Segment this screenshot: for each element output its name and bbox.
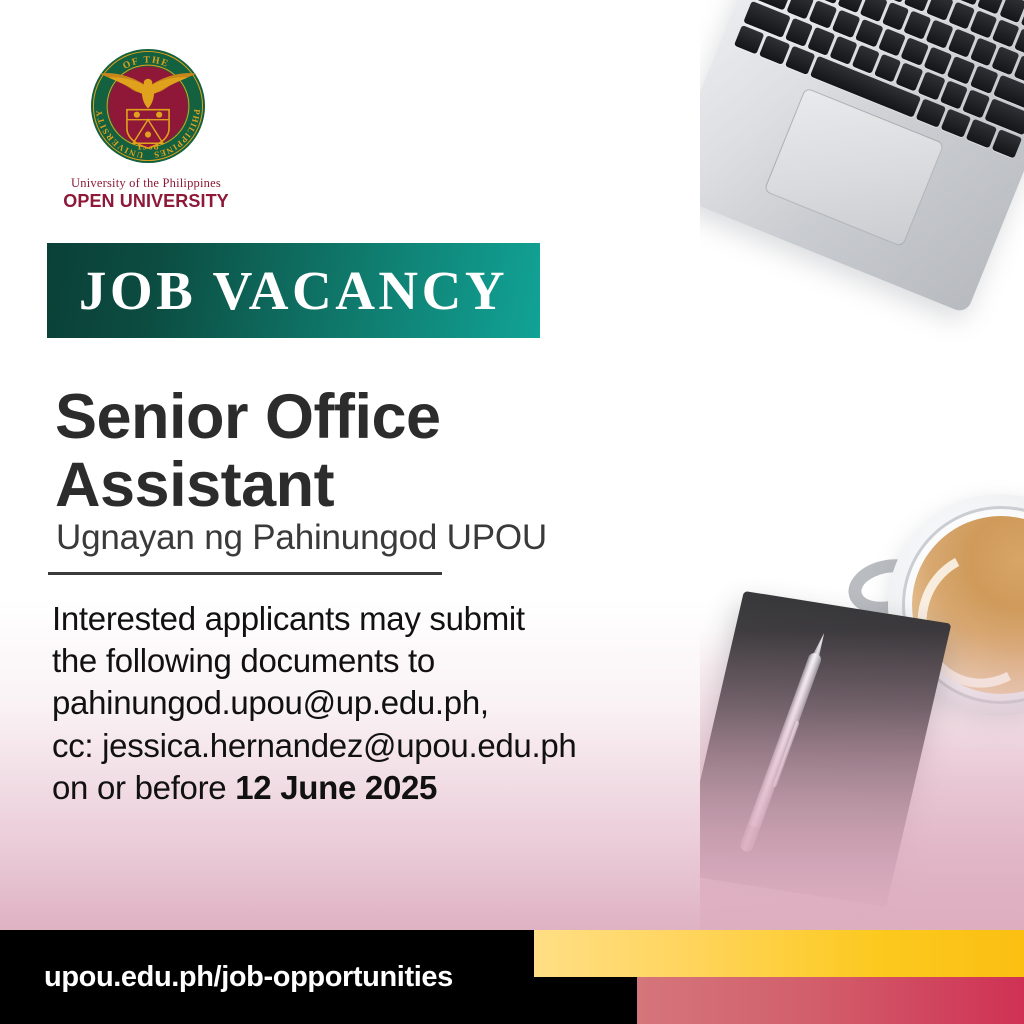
footer-bar: upou.edu.ph/job-opportunities — [0, 930, 1024, 1024]
logo-university-name: University of the Philippines — [56, 177, 236, 191]
upou-logo: OF THE UNIVERSITY PHILIPPINES 1908 — [48, 44, 288, 211]
up-seal-icon: OF THE UNIVERSITY PHILIPPINES 1908 — [86, 44, 210, 173]
application-instructions: Interested applicants may submit the fol… — [52, 598, 732, 809]
laptop-image — [700, 0, 1024, 305]
divider — [48, 572, 442, 575]
instructions-line-2: the following documents to — [52, 640, 732, 682]
photo-collage — [700, 0, 1024, 930]
deadline-prefix: on or before — [52, 769, 235, 806]
banner-label: JOB VACANCY — [79, 263, 508, 318]
rosetta-leaf — [996, 520, 1024, 692]
deadline-date: 12 June 2025 — [235, 769, 437, 806]
deadline-line: on or before 12 June 2025 — [52, 767, 732, 809]
footer-yellow-band — [534, 930, 1024, 977]
page-title: Senior Office Assistant — [55, 383, 675, 519]
job-vacancy-banner: JOB VACANCY — [47, 243, 540, 338]
contact-email-primary: pahinungod.upou@up.edu.ph, — [52, 682, 732, 724]
footer-url[interactable]: upou.edu.ph/job-opportunities — [44, 930, 453, 1024]
job-unit: Ugnayan ng Pahinungod UPOU — [56, 518, 696, 558]
footer-black-panel-secondary — [534, 977, 637, 1024]
job-vacancy-poster: OF THE UNIVERSITY PHILIPPINES 1908 — [0, 0, 1024, 1024]
contact-email-cc: cc: jessica.hernandez@upou.edu.ph — [52, 725, 732, 767]
footer-red-band — [637, 977, 1024, 1024]
logo-open-university: OPEN UNIVERSITY — [56, 191, 236, 212]
instructions-line-1: Interested applicants may submit — [52, 598, 732, 640]
